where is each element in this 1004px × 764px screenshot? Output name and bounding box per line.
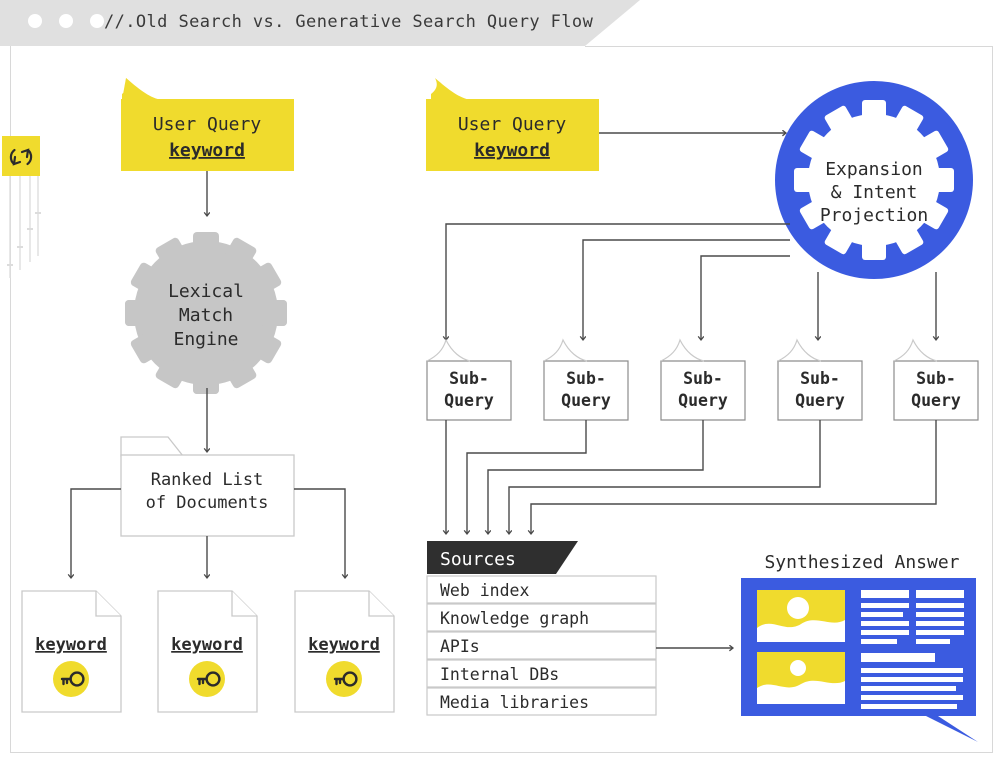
subquery-card[interactable]: Sub- Query (427, 340, 511, 420)
left-query-keyword: keyword (169, 140, 245, 161)
source-item: Web index (440, 581, 529, 600)
image-placeholder-sun (757, 590, 845, 642)
source-item: Internal DBs (440, 665, 559, 684)
expansion-line-3: Projection (820, 205, 928, 226)
sources-header-label: Sources (440, 549, 516, 570)
expansion-line-1: Expansion (825, 159, 923, 180)
synthesized-answer-bubble[interactable] (741, 578, 978, 742)
expansion-line-2: & Intent (831, 182, 918, 203)
subquery-line-1: Sub- (566, 369, 606, 388)
flow-diagram: User Query keyword (0, 0, 1004, 764)
subquery-card[interactable]: Sub- Query (894, 340, 978, 420)
subquery-card[interactable]: Sub- Query (778, 340, 862, 420)
document-card[interactable]: keyword (22, 591, 121, 712)
source-item: Media libraries (440, 693, 589, 712)
subquery-line-2: Query (561, 391, 611, 410)
source-item: Knowledge graph (440, 609, 589, 628)
right-query-keyword: keyword (474, 140, 550, 161)
subquery-line-1: Sub- (800, 369, 840, 388)
source-item: APIs (440, 637, 480, 656)
key-icon (53, 661, 89, 697)
key-icon (189, 661, 225, 697)
bubble-tail (922, 714, 978, 742)
expansion-intent-node[interactable]: Expansion & Intent Projection (775, 81, 973, 279)
right-user-query-card[interactable]: User Query keyword (426, 78, 599, 171)
document-label: keyword (171, 635, 243, 655)
document-card[interactable]: keyword (295, 591, 394, 712)
decor-badge (2, 136, 41, 278)
ranked-line-1: Ranked List (151, 470, 264, 490)
decor-lines (10, 176, 38, 278)
engine-line-2: Match (179, 305, 233, 326)
lexical-match-engine[interactable]: Lexical Match Engine (125, 224, 287, 394)
right-query-title: User Query (458, 114, 567, 135)
subquery-line-2: Query (795, 391, 845, 410)
subquery-card[interactable]: Sub- Query (544, 340, 628, 420)
answer-caption: Synthesized Answer (764, 552, 959, 573)
engine-line-1: Lexical (168, 281, 244, 302)
subquery-line-1: Sub- (683, 369, 723, 388)
key-icon (326, 661, 362, 697)
subquery-line-2: Query (911, 391, 961, 410)
image-placeholder-sun (757, 652, 845, 704)
left-query-title: User Query (153, 114, 262, 135)
subquery-card[interactable]: Sub- Query (661, 340, 745, 420)
subquery-line-2: Query (678, 391, 728, 410)
document-label: keyword (35, 635, 107, 655)
subquery-line-2: Query (444, 391, 494, 410)
left-user-query-card[interactable]: User Query keyword (121, 78, 294, 171)
edges-subqueries-to-sources (446, 420, 936, 534)
subquery-line-1: Sub- (449, 369, 489, 388)
sources-panel[interactable]: Sources Web index Knowledge graph APIs I… (427, 541, 656, 715)
ranked-line-2: of Documents (146, 493, 269, 513)
subquery-line-1: Sub- (916, 369, 956, 388)
document-label: keyword (308, 635, 380, 655)
app-canvas: //.Old Search vs. Generative Search Quer… (0, 0, 1004, 764)
document-card[interactable]: keyword (158, 591, 257, 712)
engine-line-3: Engine (173, 329, 238, 350)
